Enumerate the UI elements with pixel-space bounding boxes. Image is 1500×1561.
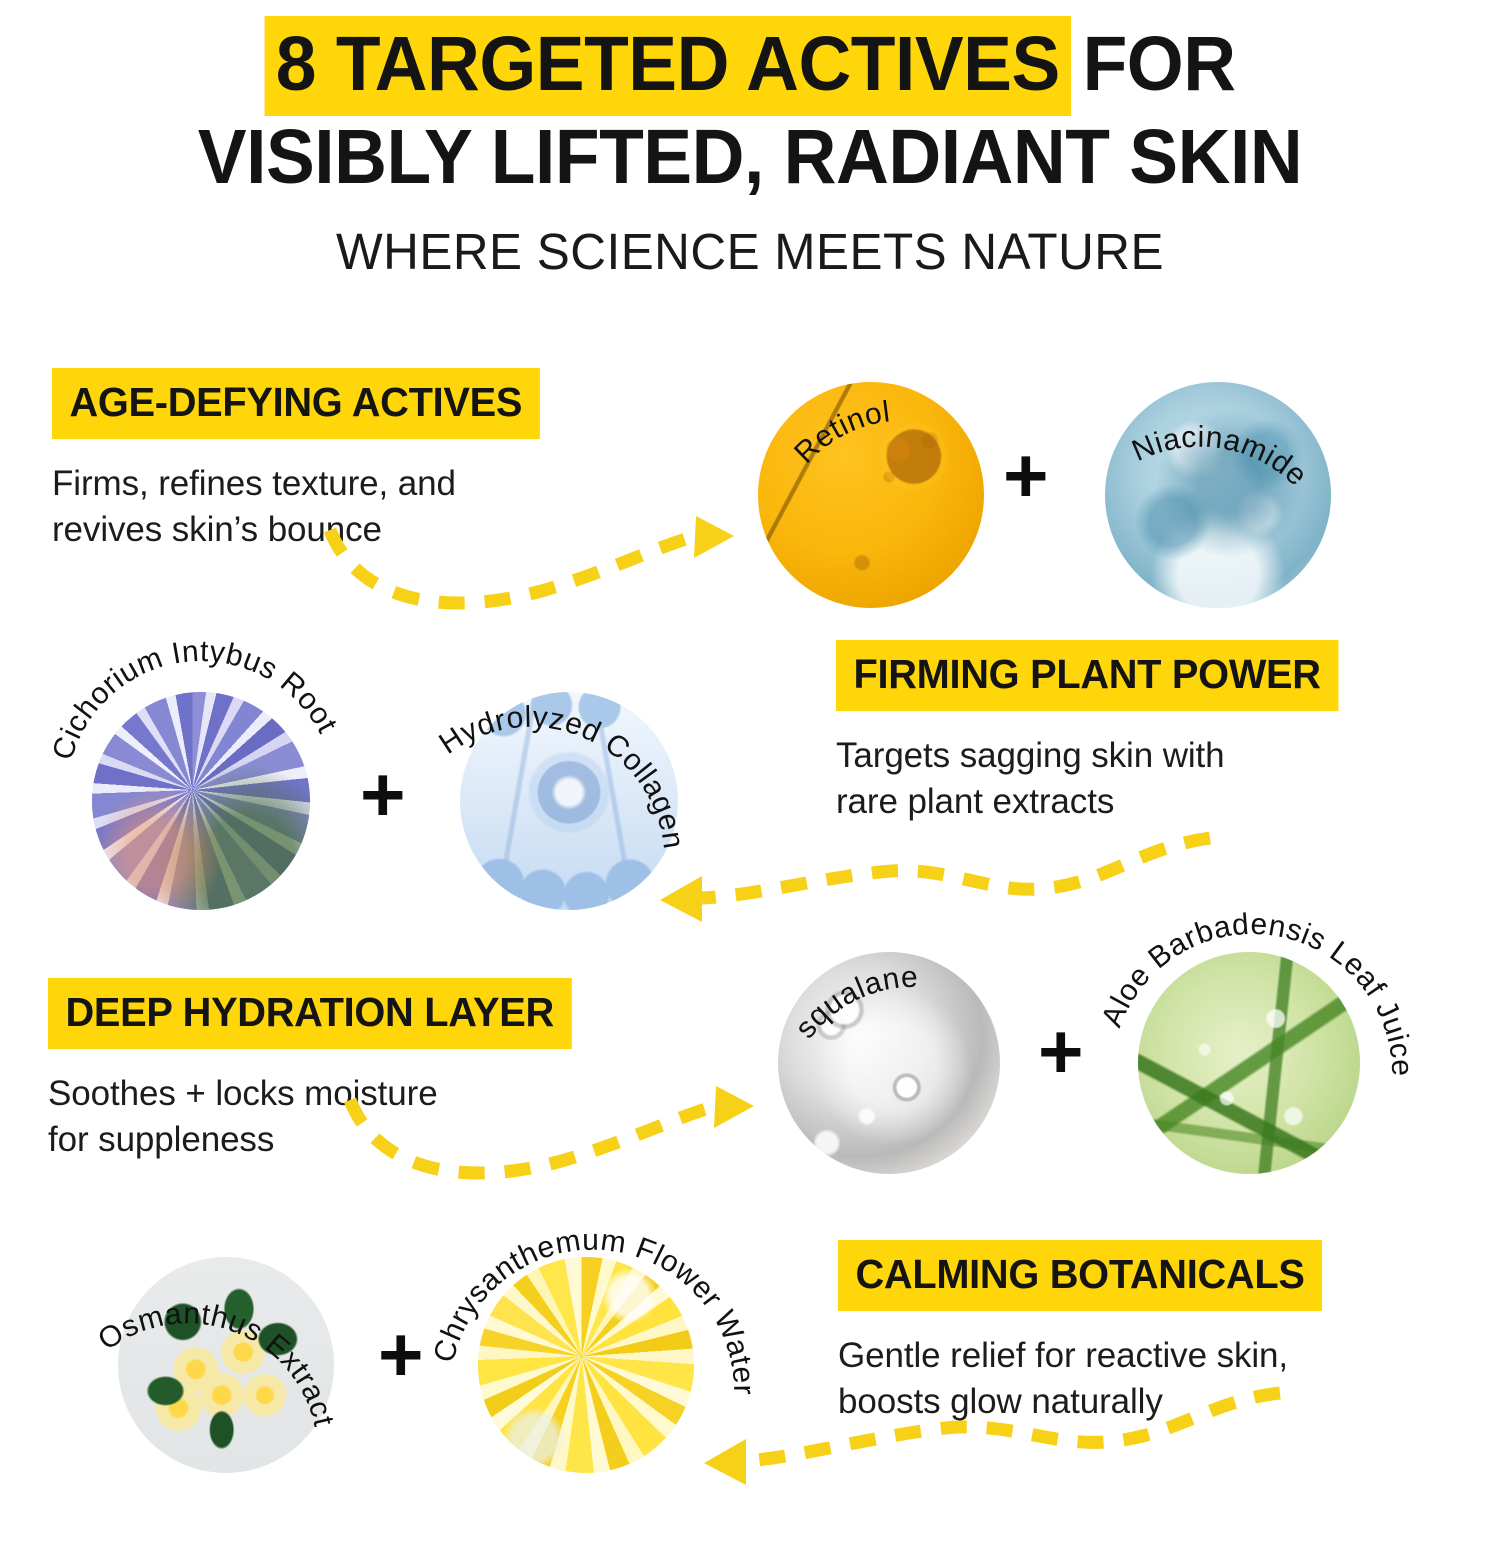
section-body-line: Targets sagging skin with — [836, 733, 1354, 779]
headline-subhead: WHERE SCIENCE MEETS NATURE — [23, 222, 1478, 281]
section-title-age-defying: AGE-DEFYING ACTIVES — [52, 368, 540, 439]
section-body-calming-botanicals: Gentle relief for reactive skin, boosts … — [838, 1333, 1337, 1424]
section-calming-botanicals: CALMING BOTANICALS Gentle relief for rea… — [838, 1240, 1337, 1424]
section-body-firming-plant-power: Targets sagging skin with rare plant ext… — [836, 733, 1354, 824]
section-title-deep-hydration-layer: DEEP HYDRATION LAYER — [48, 978, 571, 1049]
ingredient-retinol: Retinol — [758, 382, 984, 608]
section-title-calming-botanicals: CALMING BOTANICALS — [838, 1240, 1322, 1311]
ingredient-image-cichorium-intybus-root — [92, 692, 310, 910]
section-body-line: for suppleness — [48, 1117, 588, 1163]
ingredient-image-niacinamide — [1105, 382, 1331, 608]
ingredient-niacinamide: Niacinamide — [1105, 382, 1331, 608]
ingredient-osmanthus-extract: Osmanthus Extract — [118, 1257, 334, 1473]
infographic-canvas: 8 TARGETED ACTIVESFOR VISIBLY LIFTED, RA… — [0, 0, 1500, 1500]
section-body-line: revives skin’s bounce — [52, 507, 555, 553]
ingredient-aloe-barbadensis-leaf-juice: Aloe Barbadensis Leaf Juice — [1138, 952, 1360, 1174]
ingredient-squalane: squalane — [778, 952, 1000, 1174]
section-body-line: boosts glow naturally — [838, 1379, 1337, 1425]
section-age-defying: AGE-DEFYING ACTIVES Firms, refines textu… — [52, 368, 555, 552]
plus-sign-firming: + — [360, 755, 406, 833]
section-body-deep-hydration-layer: Soothes + locks moisture for suppleness — [48, 1071, 588, 1162]
section-firming-plant-power: FIRMING PLANT POWER Targets sagging skin… — [836, 640, 1354, 824]
ingredient-hydrolyzed-collagen: Hydrolyzed Collagen — [460, 692, 678, 910]
headline-line-1: 8 TARGETED ACTIVESFOR — [38, 26, 1463, 103]
headline-highlight: 8 TARGETED ACTIVES — [264, 16, 1071, 116]
ingredient-chrysanthemum-flower-water: Chrysanthemum Flower Water — [478, 1257, 694, 1473]
headline-line-1-plain: FOR — [1071, 21, 1235, 107]
ingredient-image-hydrolyzed-collagen — [460, 692, 678, 910]
section-body-line: Soothes + locks moisture — [48, 1071, 588, 1117]
ingredient-pair-age-defying: Retinol + Niacinamide — [740, 340, 1360, 620]
headline-line-2: VISIBLY LIFTED, RADIANT SKIN — [38, 119, 1463, 196]
section-body-age-defying: Firms, refines texture, and revives skin… — [52, 461, 555, 552]
plus-sign-calming: + — [378, 1315, 424, 1393]
ingredient-image-retinol — [758, 382, 984, 608]
headline-block: 8 TARGETED ACTIVESFOR VISIBLY LIFTED, RA… — [0, 26, 1500, 281]
ingredient-pair-firming: Cichorium Intybus Root + Hydrolyzed Coll… — [60, 630, 720, 930]
section-title-firming-plant-power: FIRMING PLANT POWER — [836, 640, 1338, 711]
ingredient-pair-calming: Osmanthus Extract + Chrysanthemum Flower… — [90, 1215, 790, 1515]
section-body-line: rare plant extracts — [836, 779, 1354, 825]
ingredient-image-osmanthus-extract — [118, 1257, 334, 1473]
plus-sign-age-defying: + — [1003, 436, 1049, 514]
ingredient-image-squalane — [778, 952, 1000, 1174]
ingredient-pair-hydration: squalane + Aloe Barbadensis Leaf Juice — [750, 900, 1450, 1210]
ingredient-cichorium-intybus-root: Cichorium Intybus Root — [92, 692, 310, 910]
ingredient-image-chrysanthemum-flower-water — [478, 1257, 694, 1473]
section-body-line: Firms, refines texture, and — [52, 461, 555, 507]
section-body-line: Gentle relief for reactive skin, — [838, 1333, 1337, 1379]
section-deep-hydration-layer: DEEP HYDRATION LAYER Soothes + locks moi… — [48, 978, 588, 1162]
plus-sign-hydration: + — [1038, 1012, 1084, 1090]
ingredient-image-aloe-barbadensis-leaf-juice — [1138, 952, 1360, 1174]
